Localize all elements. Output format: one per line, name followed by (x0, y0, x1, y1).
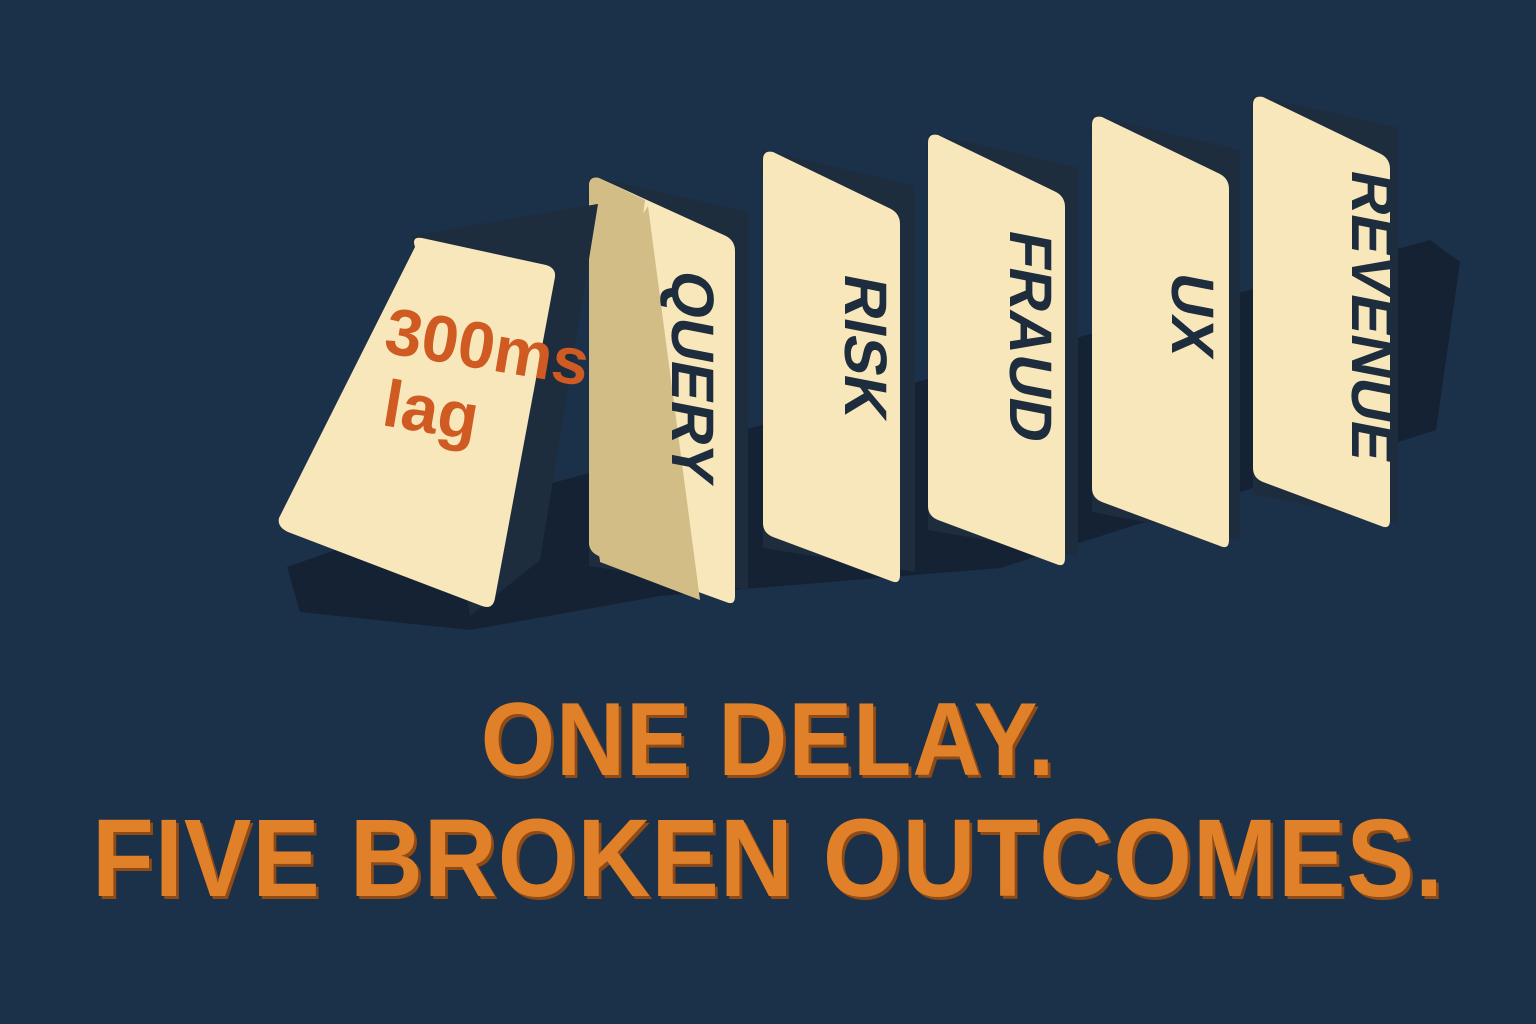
domino-revenue[interactable]: REVENUE (1250, 95, 1406, 527)
domino-fraud[interactable]: FRAUD (926, 133, 1078, 565)
domino-risk-label: RISK (832, 269, 899, 426)
poster-canvas: REVENUE UX FRAUD RISK (0, 0, 1536, 1024)
domino-chain-illustration: REVENUE UX FRAUD RISK (0, 0, 1536, 700)
domino-fraud-label: FRAUD (997, 225, 1064, 448)
domino-query[interactable]: QUERY (587, 176, 748, 603)
domino-risk[interactable]: RISK (761, 150, 915, 582)
domino-lag-label-line2: lag (378, 366, 484, 455)
domino-query-label: QUERY (659, 265, 726, 489)
domino-ux-label: UX (1159, 267, 1226, 363)
domino-revenue-label: REVENUE (1339, 165, 1406, 468)
domino-ux[interactable]: UX (1090, 115, 1240, 547)
headline-line-2: FIVE BROKEN OUTCOMES. (61, 804, 1474, 914)
headline-line-1: ONE DELAY. (61, 688, 1474, 792)
headline: ONE DELAY. FIVE BROKEN OUTCOMES. (0, 688, 1536, 914)
